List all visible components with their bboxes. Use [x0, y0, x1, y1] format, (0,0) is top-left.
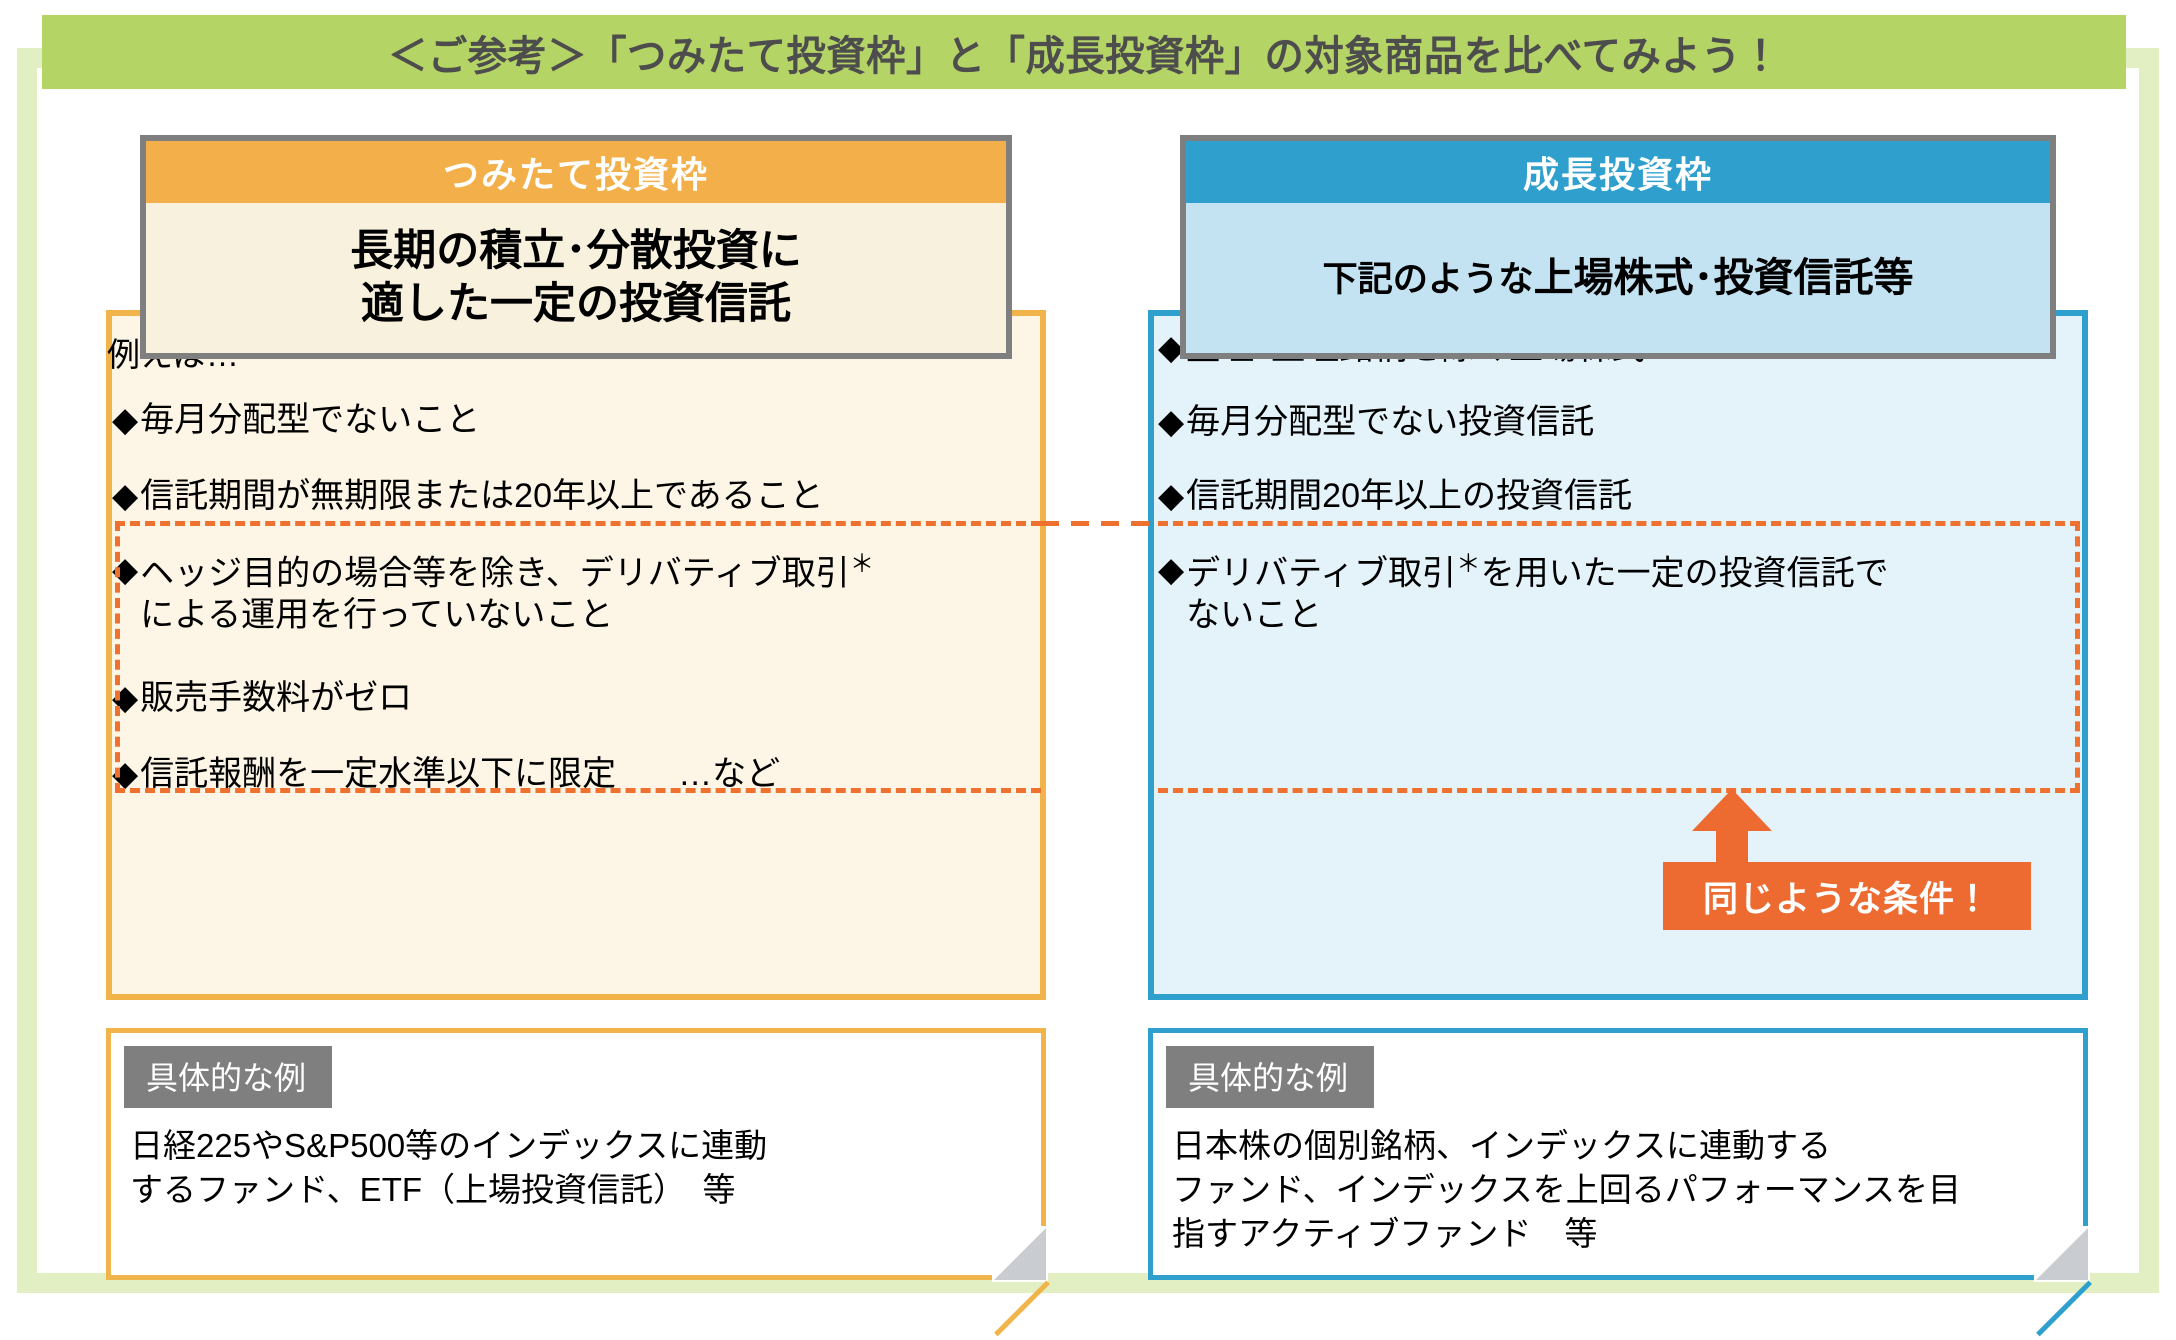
seicho-example-line2: ファンド、インデックスを上回るパフォーマンスを目	[1172, 1168, 2048, 1212]
tsumitate-example-line1: 日経225やS&P500等のインデックスに連動	[130, 1124, 1006, 1168]
seicho-title-card: 成長投資枠 下記のような上場株式･投資信託等	[1180, 135, 2056, 359]
seicho-example-line3: 指すアクティブファンド 等	[1172, 1212, 2048, 1256]
tsumitate-example-line2: するファンド、ETF（上場投資信託） 等	[130, 1168, 1006, 1212]
seicho-bullet-2-text: 毎月分配型でない投資信託	[1186, 402, 1594, 443]
diamond-bullet-icon: ◆	[1158, 476, 1184, 517]
tsumitate-example-text: 日経225やS&P500等のインデックスに連動 するファンド、ETF（上場投資信…	[130, 1124, 1006, 1212]
seicho-bullet-4-text: デリバティブ取引	[1186, 554, 1456, 592]
tsumitate-bullet-2: ◆ 信託期間が無期限または20年以上であること	[112, 476, 824, 517]
up-arrow-icon	[1692, 789, 1772, 831]
same-conditions-callout: 同じような条件！	[1663, 862, 2031, 930]
frame-left-bar	[17, 48, 37, 1293]
tsumitate-example-tag: 具体的な例	[124, 1046, 332, 1108]
diamond-bullet-icon: ◆	[112, 476, 138, 517]
tsumitate-bullet-4: ◆ 販売手数料がゼロ	[112, 678, 412, 719]
seicho-bullet-3-text: 信託期間20年以上の投資信託	[1186, 476, 1632, 517]
infographic-page: ＜ご参考＞「つみたて投資枠」と「成長投資枠」の対象商品を比べてみよう！ 例えば……	[0, 0, 2176, 1340]
tsumitate-bullet-5-text: 信託報酬を一定水準以下に限定	[140, 754, 616, 795]
tsumitate-example-box: 具体的な例 日経225やS&P500等のインデックスに連動 するファンド、ETF…	[106, 1028, 1046, 1280]
seicho-example-line1: 日本株の個別銘柄、インデックスに連動する	[1172, 1124, 2048, 1168]
tsumitate-title-text: 長期の積立･分散投資に 適した一定の投資信託	[146, 203, 1006, 353]
tsumitate-bullet-1-text: 毎月分配型でないこと	[140, 400, 480, 441]
diamond-bullet-icon: ◆	[112, 550, 138, 591]
diamond-bullet-icon: ◆	[112, 754, 138, 795]
seicho-example-text: 日本株の個別銘柄、インデックスに連動する ファンド、インデックスを上回るパフォー…	[1172, 1124, 2048, 1257]
seicho-title-main: 上場株式･投資信託等	[1534, 256, 1914, 300]
shared-conditions-dashed-connector	[1041, 521, 1159, 526]
seicho-header-label: 成長投資枠	[1186, 141, 2050, 203]
diamond-bullet-icon: ◆	[112, 400, 138, 441]
diamond-bullet-icon: ◆	[1158, 550, 1184, 591]
seicho-bullet-4-text-cont2: ないこと	[1186, 596, 1322, 634]
tsumitate-etc-label: …など	[678, 754, 780, 795]
seicho-title-prefix: 下記のような	[1322, 260, 1533, 299]
page-title: ＜ご参考＞「つみたて投資枠」と「成長投資枠」の対象商品を比べてみよう！	[388, 22, 1781, 82]
seicho-title-text: 下記のような上場株式･投資信託等	[1186, 203, 2050, 353]
tsumitate-title-card: つみたて投資枠 長期の積立･分散投資に 適した一定の投資信託	[140, 135, 1012, 359]
seicho-example-box: 具体的な例 日本株の個別銘柄、インデックスに連動する ファンド、インデックスを上…	[1148, 1028, 2088, 1280]
header-banner: ＜ご参考＞「つみたて投資枠」と「成長投資枠」の対象商品を比べてみよう！	[42, 15, 2126, 89]
tsumitate-bullet-3-text: ヘッジ目的の場合等を除き、デリバティブ取引	[140, 554, 850, 592]
folded-corner-icon	[994, 1228, 1046, 1280]
seicho-bullet-2: ◆ 毎月分配型でない投資信託	[1158, 402, 1594, 443]
seicho-bullet-3: ◆ 信託期間20年以上の投資信託	[1158, 476, 1632, 517]
tsumitate-bullet-2-text: 信託期間が無期限または20年以上であること	[140, 476, 823, 517]
tsumitate-header-label: つみたて投資枠	[146, 141, 1006, 203]
seicho-example-tag: 具体的な例	[1166, 1046, 1374, 1108]
frame-right-bar	[2139, 48, 2159, 1293]
tsumitate-bullet-5: ◆ 信託報酬を一定水準以下に限定 …など	[112, 754, 780, 795]
footnote-asterisk: ＊	[1456, 551, 1480, 578]
footnote-asterisk: ＊	[850, 551, 874, 578]
seicho-bullet-4: ◆ デリバティブ取引＊を用いた一定の投資信託で ないこと	[1158, 550, 1889, 636]
seicho-bullet-4-text-cont: を用いた一定の投資信託で	[1481, 554, 1889, 592]
diamond-bullet-icon: ◆	[1158, 402, 1184, 443]
diamond-bullet-icon: ◆	[112, 678, 138, 719]
tsumitate-bullet-3: ◆ ヘッジ目的の場合等を除き、デリバティブ取引＊ による運用を行っていないこと	[112, 550, 874, 636]
tsumitate-bullet-4-text: 販売手数料がゼロ	[140, 678, 412, 719]
tsumitate-bullet-1: ◆ 毎月分配型でないこと	[112, 400, 480, 441]
tsumitate-bullet-3-text-cont: による運用を行っていないこと	[140, 596, 613, 634]
tsumitate-title-line2: 適した一定の投資信託	[361, 280, 791, 328]
tsumitate-title-line1: 長期の積立･分散投資に	[350, 227, 802, 275]
